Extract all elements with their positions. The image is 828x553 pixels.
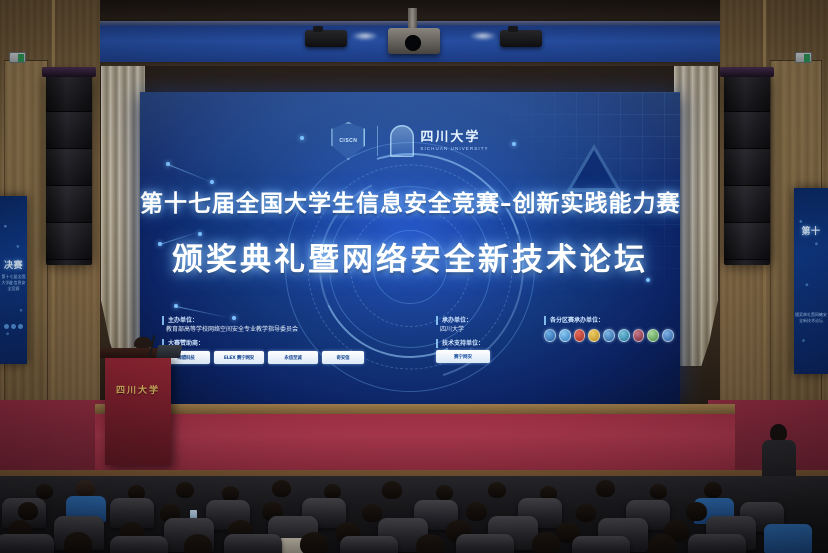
seat	[688, 534, 746, 553]
sponsor-logo: ELEX 赛宁网安	[214, 351, 264, 364]
audience-head	[184, 534, 212, 553]
sponsor-logo: 奇安信	[322, 351, 364, 364]
screen-footer: 主办单位： 教育部高等学校网络空间安全专业教学指导委员会 大赛赞助商： 绿盟科技…	[140, 312, 680, 396]
audience-head	[488, 482, 506, 498]
organizer-block: 主办单位： 教育部高等学校网络空间安全专业教学指导委员会 大赛赞助商： 绿盟科技…	[162, 316, 412, 364]
seat	[340, 536, 398, 553]
screen-title-line1: 第十七届全国大学生信息安全竞赛–创新实践能力赛决赛	[140, 184, 680, 218]
sichuan-university-logo: 四川大学 SICHUAN UNIVERSITY	[390, 125, 488, 157]
sponsor-name: 永信至诚	[284, 355, 301, 361]
spotlight-glow-right	[470, 32, 496, 40]
left-stage-curtain	[101, 66, 145, 366]
left-line-array-speaker	[46, 75, 92, 265]
sponsor-logo: 永信至诚	[268, 351, 318, 364]
region-university-logo	[662, 329, 674, 342]
audience-head	[362, 504, 382, 522]
audience-head	[436, 485, 453, 500]
screen-title-line2: 颁奖典礼暨网络安全新技术论坛	[140, 234, 680, 279]
right-side-display-title: 第十	[794, 224, 828, 237]
left-side-display: 决赛 第十七届全国大学生信息安全竞赛	[0, 196, 27, 364]
left-side-display-title: 决赛	[0, 258, 27, 271]
scu-name-en: SICHUAN UNIVERSITY	[420, 145, 488, 152]
host-block: 承办单位： 四川大学 技术支持单位： 赛宁网安	[436, 316, 526, 363]
audience-head	[76, 480, 95, 497]
audience-head	[466, 502, 487, 521]
stage-front-wall	[95, 414, 735, 476]
seat	[224, 534, 282, 553]
seat	[456, 534, 514, 553]
host-label: 承办单位：	[436, 316, 526, 325]
audience-head	[176, 482, 194, 498]
ceiling-projector	[388, 28, 440, 54]
audience-head	[382, 481, 402, 499]
scu-name-cn: 四川大学	[420, 131, 488, 145]
organizer-label: 主办单位：	[162, 316, 412, 325]
audience-area	[0, 476, 828, 553]
seat	[110, 536, 168, 553]
audience-head	[596, 480, 615, 497]
ciscn-shield-icon: CISCN	[331, 122, 365, 160]
region-university-logo	[603, 329, 615, 342]
exit-sign-icon	[9, 52, 26, 63]
region-university-logo	[588, 329, 600, 342]
main-led-screen: CISCN 四川大学 SICHUAN UNIVERSITY 第十七届全国大学生信…	[140, 92, 680, 404]
host-value: 四川大学	[436, 325, 526, 335]
screen-logo-row: CISCN 四川大学 SICHUAN UNIVERSITY	[140, 122, 680, 160]
podium: 四川大学	[105, 355, 171, 465]
audience-head	[64, 532, 92, 553]
projector-lens	[405, 35, 421, 51]
audience-head	[222, 486, 239, 501]
audience-head	[532, 532, 560, 553]
left-side-logo-dots	[4, 324, 23, 329]
podium-engraving: 四川大学	[105, 383, 171, 396]
right-side-display-subtitle: 颁奖典礼暨网络安全新技术论坛	[794, 312, 828, 324]
region-university-logo	[574, 329, 586, 342]
region-hosts-block: 各分区赛承办单位：	[544, 316, 674, 342]
ceiling-spotlight-right	[500, 30, 542, 47]
logo-divider	[377, 126, 378, 156]
audience-head	[704, 482, 722, 498]
left-side-display-subtitle: 第十七届全国大学生信息安全竞赛	[0, 274, 27, 292]
audience-head	[272, 480, 291, 497]
audience-head	[650, 484, 667, 499]
audience-head	[300, 532, 328, 553]
right-line-array-speaker	[724, 75, 770, 265]
region-university-logo	[618, 329, 630, 342]
audience-head	[648, 534, 676, 553]
speaker-rigging-bar	[42, 67, 96, 77]
sponsor-name: 奇安信	[337, 355, 350, 361]
audience-head	[416, 534, 444, 553]
audience-head	[324, 484, 341, 499]
region-label: 各分区赛承办单位：	[544, 316, 674, 325]
organizer-value: 教育部高等学校网络空间安全专业教学指导委员会	[162, 325, 412, 335]
podium-laptop	[156, 345, 182, 358]
auditorium-screenshot: 决赛 第十七届全国大学生信息安全竞赛 第十 颁奖典礼暨网络安全新技术论坛	[0, 0, 828, 553]
tech-support-logo: 赛宁网安	[436, 350, 490, 363]
presenter-hair	[134, 337, 152, 348]
tech-support-value: 赛宁网安	[454, 354, 472, 360]
spotlight-glow-left	[352, 32, 378, 40]
region-university-logo	[544, 329, 556, 342]
region-university-logo	[559, 329, 571, 342]
region-logo-row	[544, 329, 674, 342]
audience-head	[576, 504, 596, 522]
right-stage-curtain	[674, 66, 718, 366]
right-side-display: 第十 颁奖典礼暨网络安全新技术论坛	[794, 188, 828, 374]
sponsor-logo-row: 绿盟科技 ELEX 赛宁网安 永信至诚 奇安信	[162, 351, 412, 364]
audience-head	[18, 502, 38, 520]
ceiling-spotlight-left	[305, 30, 347, 47]
speaker-rigging-bar-right	[720, 67, 774, 77]
sponsor-name: ELEX 赛宁网安	[224, 355, 254, 361]
shield-mark-label: CISCN	[339, 139, 357, 144]
exit-sign-icon-right	[795, 52, 812, 63]
audience-head	[36, 484, 53, 499]
region-university-logo	[633, 329, 645, 342]
right-side-network-graphic	[794, 188, 828, 374]
seat	[572, 536, 630, 553]
sponsor-label: 大赛赞助商：	[162, 339, 412, 348]
scu-arch-icon	[390, 125, 414, 157]
audience-torso	[764, 524, 812, 553]
audience-head	[686, 502, 707, 521]
region-university-logo	[647, 329, 659, 342]
tech-support-label: 技术支持单位：	[436, 339, 526, 348]
seat	[0, 534, 54, 553]
